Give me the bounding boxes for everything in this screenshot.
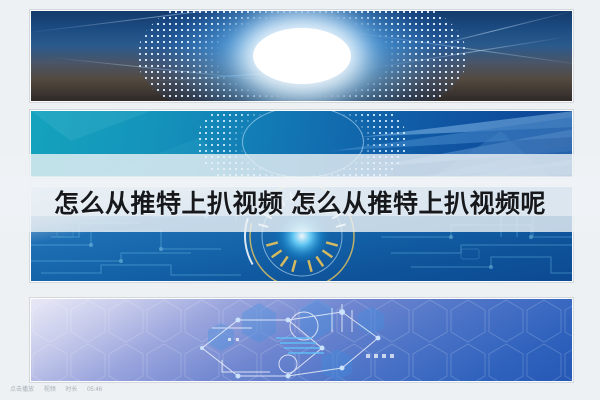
- footer-text-2: 视频: [44, 387, 56, 393]
- page-root: 怎么从推特上扒视频 怎么从推特上扒视频呢 点击播放 视频 时长 05:46: [0, 0, 600, 400]
- tech-node-network: [192, 298, 412, 382]
- footer-text-1: 点击播放: [10, 387, 34, 393]
- sky-glow-banner: [30, 10, 573, 102]
- light-orb: [253, 28, 351, 84]
- hexagon-mesh-banner: [30, 298, 573, 382]
- footer-text-3: 时长: [65, 387, 77, 393]
- page-title: 怎么从推特上扒视频 怎么从推特上扒视频呢: [0, 188, 600, 220]
- footer-watermark: 点击播放 视频 时长 05:46: [10, 386, 110, 395]
- footer-text-4: 05:46: [87, 387, 102, 393]
